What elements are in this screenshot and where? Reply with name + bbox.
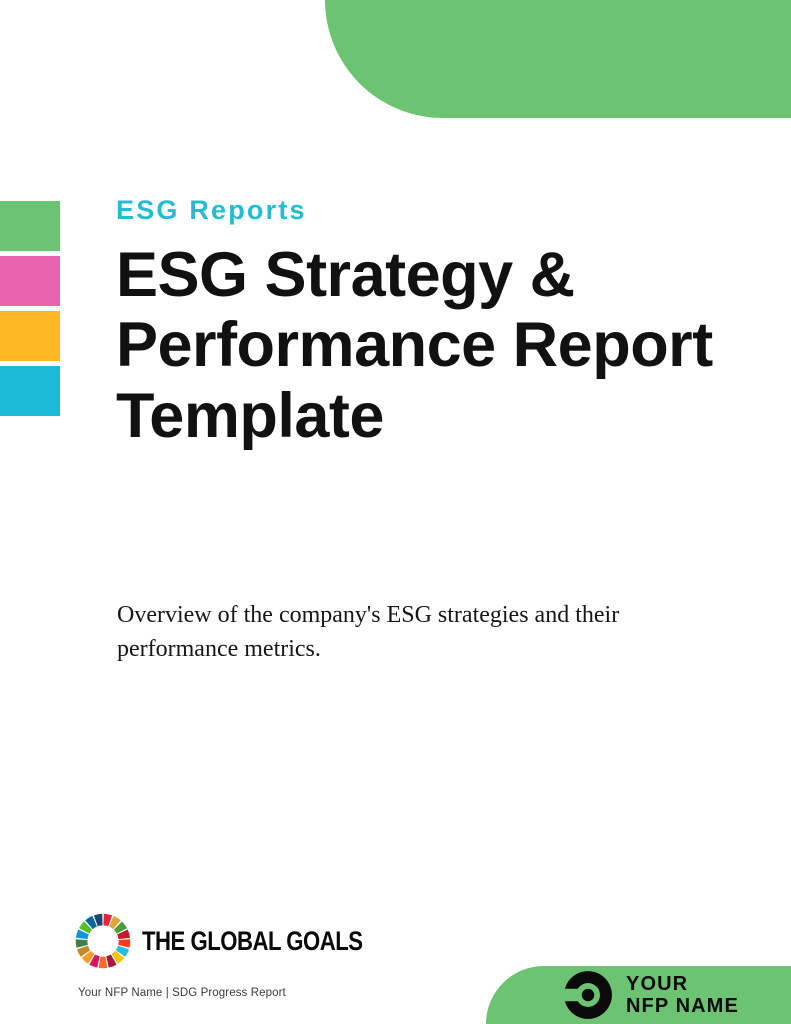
global-goals-wordmark: THE GLOBAL GOALS [142, 926, 363, 957]
page-title: ESG Strategy & Performance Report Templa… [116, 240, 716, 452]
swatch-yellow [0, 311, 60, 361]
page-subtitle: Overview of the company's ESG strategies… [117, 598, 707, 666]
top-green-banner-shape [325, 0, 791, 118]
eyebrow-label: ESG Reports [116, 196, 716, 226]
sdg-color-wheel-icon [74, 912, 132, 970]
cover-text-block: ESG Reports ESG Strategy & Performance R… [116, 196, 716, 451]
circular-target-icon [562, 969, 614, 1021]
nfp-badge: YOUR NFP NAME [562, 969, 739, 1021]
swatch-green [0, 201, 60, 251]
color-swatch-stack [0, 201, 60, 421]
global-goals-lockup: THE GLOBAL GOALS [74, 912, 411, 970]
nfp-name-label: YOUR NFP NAME [626, 973, 739, 1018]
swatch-cyan [0, 366, 60, 416]
swatch-pink [0, 256, 60, 306]
global-goals-caption: Your NFP Name | SDG Progress Report [78, 987, 286, 999]
